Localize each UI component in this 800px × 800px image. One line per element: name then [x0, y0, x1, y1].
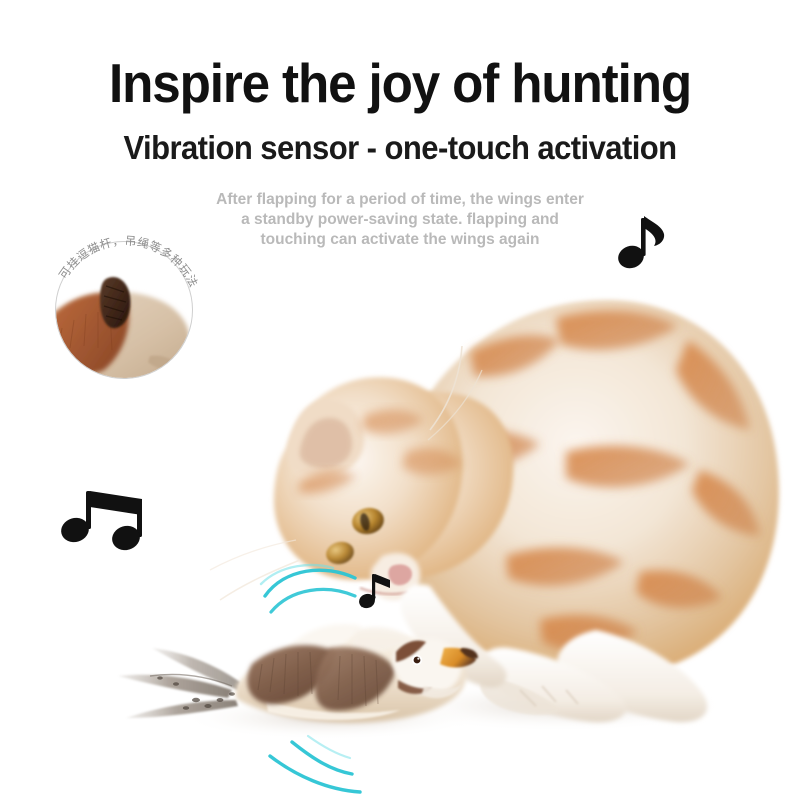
body-copy-line-1: After flapping for a period of time, the…: [170, 190, 630, 210]
badge-caption: 可挂逗猫杆，吊绳等多种玩法: [46, 232, 204, 390]
body-copy-line-3: touching can activate the wings again: [170, 230, 630, 250]
page-headline: Inspire the joy of hunting: [28, 52, 772, 114]
music-note-double-icon: [52, 477, 148, 555]
vibration-waves-upper: [259, 562, 363, 620]
body-copy-line-2: a standby power-saving state. flapping a…: [170, 210, 630, 230]
feature-badge: 可挂逗猫杆，吊绳等多种玩法: [46, 232, 204, 390]
product-photo: [0, 0, 800, 800]
body-copy: After flapping for a period of time, the…: [170, 190, 630, 250]
product-ad-page: 可挂逗猫杆，吊绳等多种玩法 Inspire the joy of hunting…: [0, 0, 800, 800]
music-note-tiny-icon: [359, 572, 393, 612]
bird-toy-illustration: [118, 624, 478, 723]
vibration-waves-lower: [256, 728, 386, 800]
page-subtitle: Vibration sensor - one-touch activation: [24, 128, 776, 168]
